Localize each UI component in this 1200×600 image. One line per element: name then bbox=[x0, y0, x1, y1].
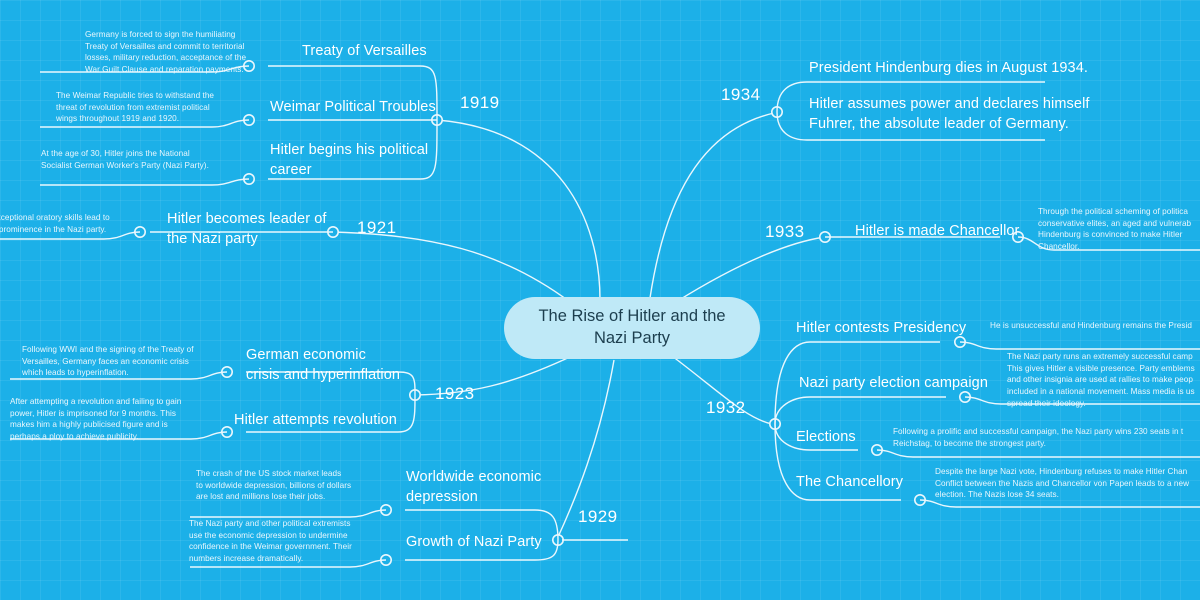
node-label-growth-of-nazi-party[interactable]: Growth of Nazi Party bbox=[406, 533, 542, 553]
node-detail-worldwide-economic-depression: The crash of the US stock market leads t… bbox=[196, 468, 386, 503]
node-label-treaty-of-versailles[interactable]: Treaty of Versailles bbox=[302, 42, 427, 62]
year-label-1932: 1932 bbox=[706, 398, 745, 418]
node-label-weimar-political-troubles[interactable]: Weimar Political Troubles bbox=[270, 98, 436, 118]
node-label-worldwide-economic-depression[interactable]: Worldwide economic depression bbox=[406, 468, 541, 507]
node-label-the-chancellory[interactable]: The Chancellory bbox=[796, 473, 903, 493]
node-label-hitler-begins-political-career[interactable]: Hitler begins his political career bbox=[270, 141, 428, 180]
node-label-hitler-becomes-leader[interactable]: Hitler becomes leader of the Nazi party bbox=[167, 210, 327, 249]
year-label-1919: 1919 bbox=[460, 93, 499, 113]
node-detail-hitler-attempts-revolution: After attempting a revolution and failin… bbox=[10, 396, 210, 443]
node-detail-german-economic-crisis: Following WWI and the signing of the Tre… bbox=[22, 344, 217, 379]
year-label-1929: 1929 bbox=[578, 507, 617, 527]
node-detail-elections: Following a prolific and successful camp… bbox=[893, 426, 1200, 449]
node-detail-the-chancellory: Despite the large Nazi vote, Hindenburg … bbox=[935, 466, 1200, 501]
year-label-1933: 1933 bbox=[765, 222, 804, 242]
year-label-1923: 1923 bbox=[435, 384, 474, 404]
node-label-nazi-party-election-campaign[interactable]: Nazi party election campaign bbox=[799, 374, 988, 394]
year-label-1921: 1921 bbox=[357, 218, 396, 238]
node-detail-treaty-of-versailles: Germany is forced to sign the humiliatin… bbox=[85, 29, 265, 76]
node-detail-hitler-made-chancellor: Through the political scheming of politi… bbox=[1038, 206, 1200, 253]
node-detail-hitler-contests-presidency: He is unsuccessful and Hindenburg remain… bbox=[990, 320, 1200, 332]
year-label-1934: 1934 bbox=[721, 85, 760, 105]
node-label-hitler-contests-presidency[interactable]: Hitler contests Presidency bbox=[796, 319, 966, 339]
node-detail-nazi-party-election-campaign: The Nazi party runs an extremely success… bbox=[1007, 351, 1200, 409]
node-label-hindenburg-dies[interactable]: President Hindenburg dies in August 1934… bbox=[809, 59, 1088, 79]
node-detail-weimar-political-troubles: The Weimar Republic tries to withstand t… bbox=[56, 90, 256, 125]
node-label-german-economic-crisis[interactable]: German economic crisis and hyperinflatio… bbox=[246, 346, 400, 385]
node-label-elections[interactable]: Elections bbox=[796, 428, 856, 448]
node-detail-hitler-becomes-leader: exceptional oratory skills lead to o pro… bbox=[0, 212, 132, 235]
node-label-hitler-assumes-power[interactable]: Hitler assumes power and declares himsel… bbox=[809, 95, 1090, 134]
central-topic-node[interactable]: The Rise of Hitler and the Nazi Party bbox=[504, 297, 760, 359]
node-detail-growth-of-nazi-party: The Nazi party and other political extre… bbox=[189, 518, 384, 565]
node-label-hitler-attempts-revolution[interactable]: Hitler attempts revolution bbox=[234, 411, 397, 431]
node-detail-hitler-begins-political-career: At the age of 30, Hitler joins the Natio… bbox=[41, 148, 246, 171]
node-label-hitler-made-chancellor[interactable]: Hitler is made Chancellor bbox=[855, 222, 1019, 242]
central-topic-label: The Rise of Hitler and the Nazi Party bbox=[522, 306, 742, 350]
